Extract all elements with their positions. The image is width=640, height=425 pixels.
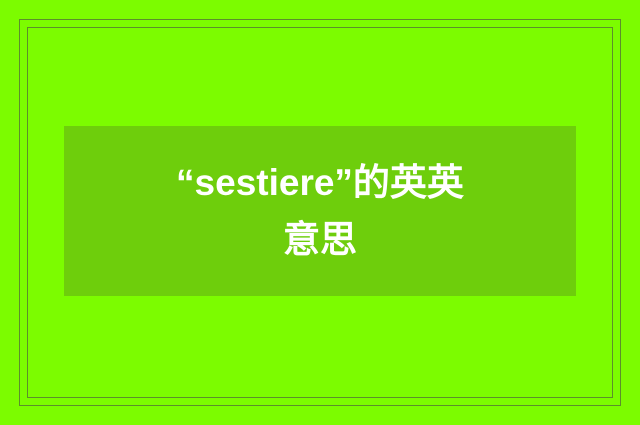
title-panel: “sestiere”的英英意思 (64, 126, 576, 296)
poster-title: “sestiere”的英英意思 (160, 154, 480, 268)
poster-canvas: “sestiere”的英英意思 (0, 0, 640, 425)
